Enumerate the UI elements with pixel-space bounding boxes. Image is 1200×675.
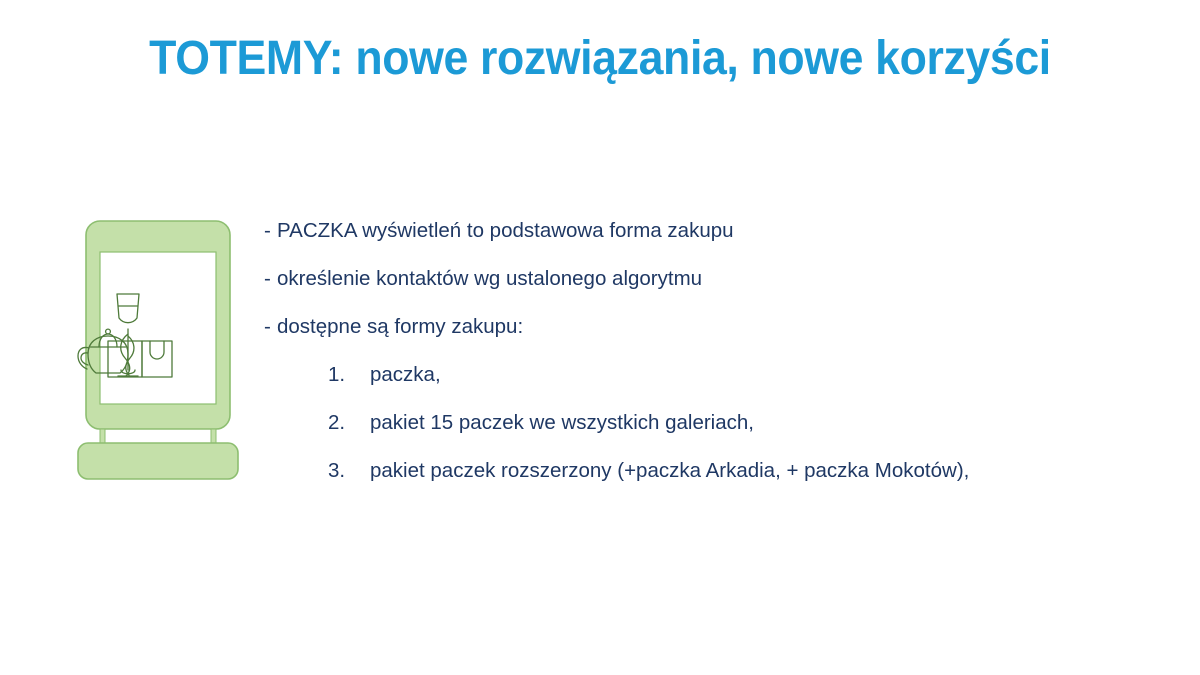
bullet-label: określenie kontaktów wg ustalonego algor… xyxy=(277,267,702,291)
numbered-label: paczka, xyxy=(370,363,441,387)
numbered-marker: 2. xyxy=(328,411,370,435)
content-list: - PACZKA wyświetleń to podstawowa forma … xyxy=(264,219,1144,507)
bullet-item: - dostępne są formy zakupu: xyxy=(264,315,1144,363)
bullet-item: - określenie kontaktów wg ustalonego alg… xyxy=(264,267,1144,315)
numbered-label: pakiet 15 paczek we wszystkich galeriach… xyxy=(370,411,754,435)
bullet-marker: - xyxy=(264,219,277,243)
bullet-item: - PACZKA wyświetleń to podstawowa forma … xyxy=(264,219,1144,267)
bullet-marker: - xyxy=(264,315,277,339)
numbered-label: pakiet paczek rozszerzony (+paczka Arkad… xyxy=(370,459,969,483)
numbered-item: 1. paczka, xyxy=(264,363,1144,411)
totem-svg xyxy=(72,218,244,484)
numbered-item: 3. pakiet paczek rozszerzony (+paczka Ar… xyxy=(264,459,1144,507)
totem-leg-right xyxy=(211,429,216,443)
numbered-marker: 1. xyxy=(328,363,370,387)
totem-base-shape xyxy=(78,443,238,479)
numbered-marker: 3. xyxy=(328,459,370,483)
totem-leg-left xyxy=(100,429,105,443)
bullet-label: PACZKA wyświetleń to podstawowa forma za… xyxy=(277,219,734,243)
bullet-marker: - xyxy=(264,267,277,291)
slide-title: TOTEMY: nowe rozwiązania, nowe korzyści xyxy=(42,31,1158,87)
totem-screen-shape xyxy=(100,252,216,404)
numbered-item: 2. pakiet 15 paczek we wszystkich galeri… xyxy=(264,411,1144,459)
totem-kiosk-illustration xyxy=(72,218,244,484)
bullet-label: dostępne są formy zakupu: xyxy=(277,315,523,339)
presentation-slide: TOTEMY: nowe rozwiązania, nowe korzyści xyxy=(0,0,1200,675)
